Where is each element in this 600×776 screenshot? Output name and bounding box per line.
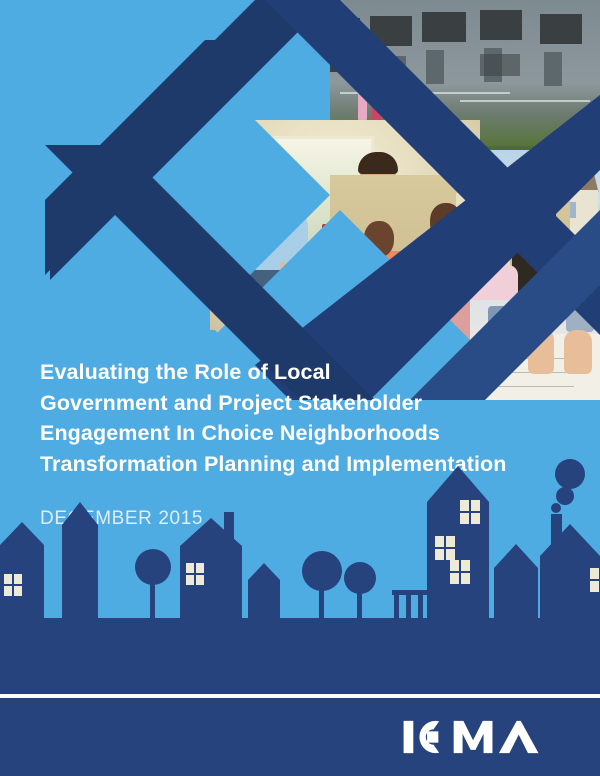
report-cover-page: Evaluating the Role of Local Government … xyxy=(0,0,600,776)
smoke-puff-medium xyxy=(556,487,574,505)
icma-logo xyxy=(402,716,564,758)
smoke-puff-large xyxy=(555,459,585,489)
smoke-puff-small xyxy=(551,503,561,513)
tower-left-peaked xyxy=(62,502,98,618)
neighborhood-skyline xyxy=(0,450,600,650)
footer-band-upper xyxy=(0,650,600,694)
house-right-peaked xyxy=(494,544,538,618)
title-line-3: Engagement In Choice Neighborhoods xyxy=(40,418,560,449)
footer-band xyxy=(0,698,600,776)
title-line-2: Government and Project Stakeholder xyxy=(40,388,560,419)
title-line-1: Evaluating the Role of Local xyxy=(40,357,560,388)
house-small-peaked xyxy=(248,563,280,618)
